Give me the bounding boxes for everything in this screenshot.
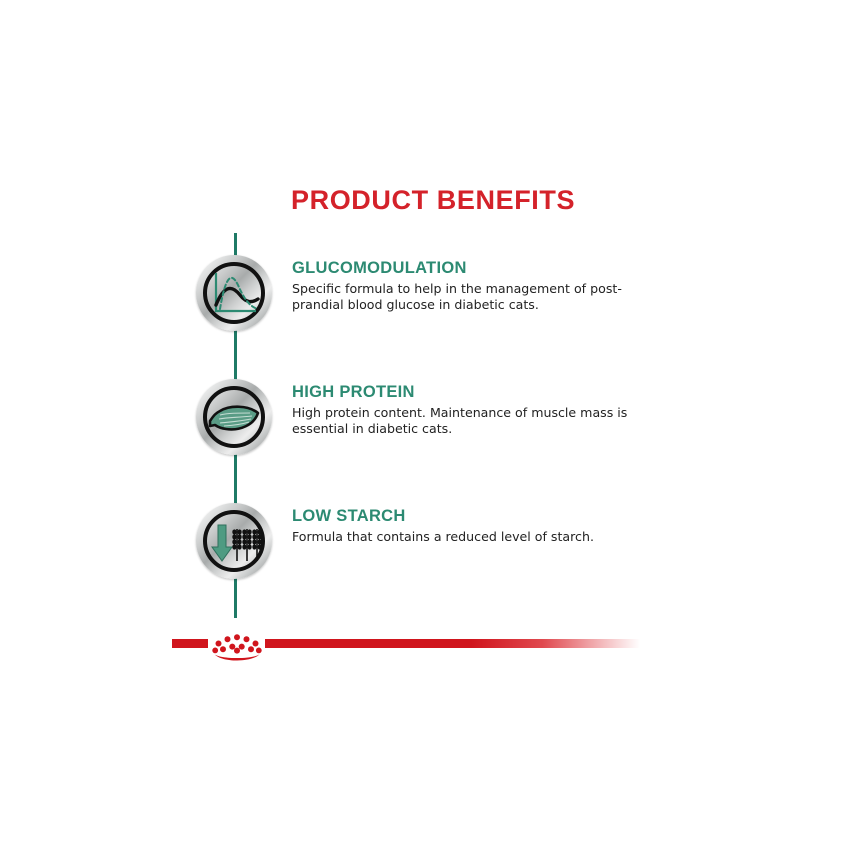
benefit-text-block: GLUCOMODULATION Specific formula to help… [292,259,652,312]
royal-canin-crown-logo [208,630,266,666]
benefit-item-low-starch: LOW STARCH Formula that contains a reduc… [196,503,666,593]
benefit-text-block: LOW STARCH Formula that contains a reduc… [292,507,652,545]
benefit-description: High protein content. Maintenance of mus… [292,405,632,436]
benefit-heading: HIGH PROTEIN [292,383,652,402]
benefit-item-high-protein: HIGH PROTEIN High protein content. Maint… [196,379,666,469]
benefit-item-glucomodulation: GLUCOMODULATION Specific formula to help… [196,255,666,345]
benefit-text-block: HIGH PROTEIN High protein content. Maint… [292,383,652,436]
footer-brand-bar [0,630,850,666]
muscle-leaf-icon [196,379,272,455]
page-title: PRODUCT BENEFITS [291,185,575,216]
down-arrow-wheat-icon [196,503,272,579]
benefit-description: Formula that contains a reduced level of… [292,529,632,545]
glucose-curve-graph-icon [196,255,272,331]
benefit-description: Specific formula to help in the manageme… [292,281,632,312]
footer-rule-left [172,639,208,648]
benefit-heading: GLUCOMODULATION [292,259,652,278]
product-benefits-page: PRODUCT BENEFITS GLUCOMODULATION Specifi… [0,0,850,850]
benefit-heading: LOW STARCH [292,507,652,526]
footer-rule-right [265,639,640,648]
